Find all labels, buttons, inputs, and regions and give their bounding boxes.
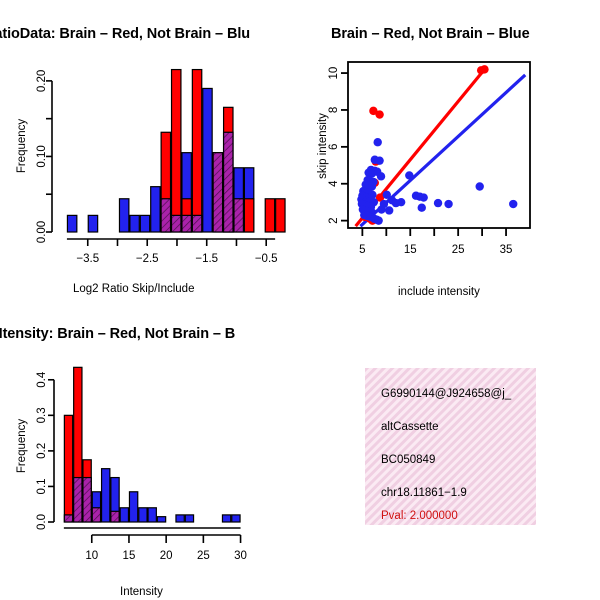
scatter-point bbox=[418, 204, 426, 212]
histogram-bar bbox=[111, 511, 119, 522]
info-gene-id: G6990144@J924658@j_ bbox=[381, 388, 536, 400]
svg-text:15: 15 bbox=[123, 550, 136, 562]
histogram-bar bbox=[276, 199, 285, 232]
scatter-point bbox=[385, 206, 393, 214]
histogram-bar bbox=[129, 492, 137, 522]
svg-text:15: 15 bbox=[404, 244, 417, 256]
scatter-point bbox=[374, 216, 382, 224]
scatter-point bbox=[444, 200, 452, 208]
scatter-point bbox=[509, 200, 517, 208]
scatter-point bbox=[375, 156, 383, 164]
histogram-bar bbox=[157, 517, 165, 522]
scatter-point bbox=[476, 182, 484, 190]
scatter-point bbox=[380, 200, 388, 208]
svg-text:10: 10 bbox=[328, 67, 340, 80]
panel-ratio-histogram: RatioData: Brain – Red, Not Brain – Blu … bbox=[0, 0, 300, 300]
ratio-histogram-plot: 0.000.100.20−3.5−2.5−1.5−0.5 bbox=[0, 50, 300, 300]
histogram-bar bbox=[120, 508, 128, 522]
info-pval: Pval: 2.000000 bbox=[381, 510, 458, 522]
svg-text:4: 4 bbox=[328, 180, 340, 187]
scatter-title: Brain – Red, Not Brain – Blue bbox=[331, 26, 530, 42]
histogram-bar bbox=[185, 515, 193, 522]
svg-text:25: 25 bbox=[197, 550, 210, 562]
svg-text:0.3: 0.3 bbox=[36, 407, 48, 423]
panel-intensity-scatter: Brain – Red, Not Brain – Blue 2468105152… bbox=[300, 0, 600, 300]
intensity-histogram-plot: 0.00.10.20.30.41015202530 bbox=[0, 352, 300, 592]
histogram-bar bbox=[102, 469, 110, 522]
svg-text:0.00: 0.00 bbox=[36, 221, 48, 243]
histogram-bar bbox=[67, 215, 76, 232]
histogram-bar bbox=[64, 515, 72, 522]
svg-text:−3.5: −3.5 bbox=[76, 253, 99, 265]
svg-text:0.20: 0.20 bbox=[36, 70, 48, 92]
gene-info-panel: G6990144@J924658@j_ altCassette BC050849… bbox=[365, 368, 536, 525]
histogram-bar bbox=[244, 199, 253, 232]
svg-text:−2.5: −2.5 bbox=[136, 253, 159, 265]
svg-text:35: 35 bbox=[500, 244, 513, 256]
histogram-bar bbox=[151, 187, 160, 232]
histogram-bar bbox=[224, 132, 233, 232]
intensity-histogram-title: ne Itensity: Brain – Red, Not Brain – B bbox=[0, 326, 235, 342]
histogram-bar bbox=[161, 199, 170, 232]
svg-text:30: 30 bbox=[234, 550, 247, 562]
svg-text:5: 5 bbox=[359, 244, 365, 256]
histogram-bar bbox=[172, 215, 181, 232]
ratio-histogram-ylabel: Frequency bbox=[16, 111, 28, 181]
svg-text:25: 25 bbox=[452, 244, 465, 256]
svg-text:2: 2 bbox=[328, 217, 340, 223]
histogram-bar bbox=[130, 215, 139, 232]
histogram-bar bbox=[192, 70, 201, 232]
histogram-bar bbox=[192, 215, 201, 232]
svg-text:0.4: 0.4 bbox=[36, 371, 48, 388]
scatter-plot: 2468105152535 bbox=[300, 50, 600, 300]
svg-text:6: 6 bbox=[328, 144, 340, 150]
histogram-bar bbox=[213, 153, 222, 232]
scatter-point bbox=[375, 110, 383, 118]
scatter-point bbox=[419, 193, 427, 201]
figure-canvas: RatioData: Brain – Red, Not Brain – Blu … bbox=[0, 0, 600, 600]
svg-text:0.0: 0.0 bbox=[36, 514, 48, 530]
histogram-bar bbox=[119, 199, 128, 232]
ratio-histogram-xlabel: Log2 Ratio Skip/Include bbox=[73, 283, 194, 295]
histogram-bar bbox=[83, 478, 91, 522]
histogram-bar bbox=[234, 199, 243, 232]
histogram-bar bbox=[88, 215, 97, 232]
histogram-bar bbox=[148, 508, 156, 522]
info-event-type: altCassette bbox=[381, 421, 439, 433]
scatter-ylabel: skip intensity bbox=[317, 111, 329, 181]
histogram-bar bbox=[139, 508, 147, 522]
info-locus: chr18.11861−1.9 bbox=[381, 487, 467, 499]
svg-text:−0.5: −0.5 bbox=[255, 253, 278, 265]
histogram-bar bbox=[232, 515, 240, 522]
panel-intensity-histogram: ne Itensity: Brain – Red, Not Brain – B … bbox=[0, 300, 300, 600]
histogram-bar bbox=[172, 70, 181, 232]
ratio-histogram-title: RatioData: Brain – Red, Not Brain – Blu bbox=[0, 26, 250, 42]
svg-text:0.1: 0.1 bbox=[36, 478, 48, 494]
histogram-bar bbox=[92, 508, 100, 522]
svg-text:8: 8 bbox=[328, 107, 340, 113]
svg-text:10: 10 bbox=[85, 550, 98, 562]
histogram-bar bbox=[203, 88, 212, 232]
svg-text:0.2: 0.2 bbox=[36, 443, 48, 459]
intensity-histogram-xlabel: Intensity bbox=[120, 586, 163, 598]
intensity-histogram-ylabel: Frequency bbox=[16, 411, 28, 481]
info-accession: BC050849 bbox=[381, 454, 435, 466]
histogram-bar bbox=[74, 478, 82, 522]
histogram-bar bbox=[222, 515, 230, 522]
svg-text:−1.5: −1.5 bbox=[195, 253, 218, 265]
scatter-xlabel: include intensity bbox=[398, 286, 480, 298]
svg-text:0.10: 0.10 bbox=[36, 145, 48, 167]
histogram-bar bbox=[140, 215, 149, 232]
histogram-bar bbox=[265, 199, 274, 232]
histogram-bar bbox=[176, 515, 184, 522]
scatter-point bbox=[477, 66, 485, 74]
histogram-bar bbox=[64, 415, 72, 522]
scatter-point bbox=[377, 172, 385, 180]
scatter-point bbox=[405, 171, 413, 179]
scatter-point bbox=[373, 138, 381, 146]
histogram-bar bbox=[182, 215, 191, 232]
scatter-point bbox=[434, 199, 442, 207]
svg-text:20: 20 bbox=[160, 550, 173, 562]
scatter-point bbox=[397, 198, 405, 206]
